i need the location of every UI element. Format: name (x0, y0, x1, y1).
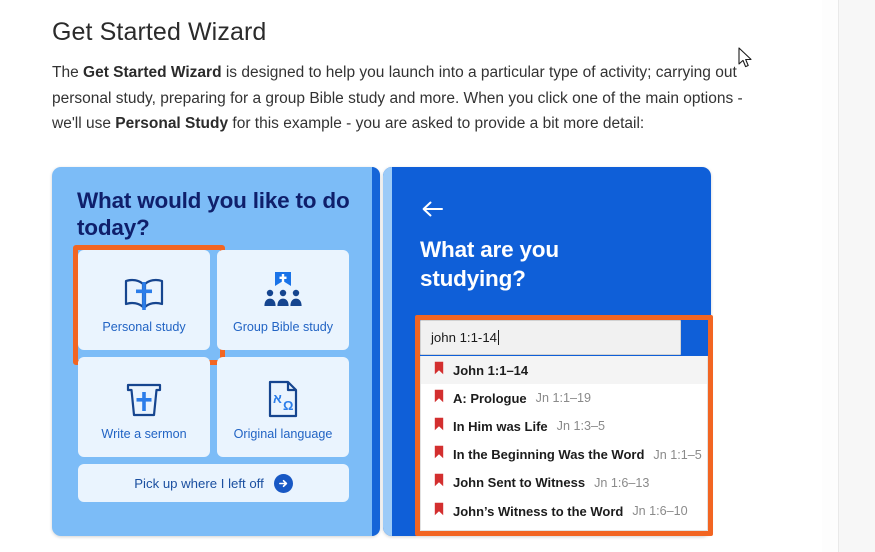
left-panel-right-edge (372, 167, 380, 536)
text-caret (498, 330, 499, 345)
intro-paragraph: The Get Started Wizard is designed to he… (52, 60, 758, 137)
back-arrow-icon[interactable] (421, 199, 445, 219)
suggestion-row[interactable]: A: Prologue Jn 1:1–19 (421, 384, 707, 412)
intro-segment-1: The (52, 64, 83, 81)
option-card-original-language[interactable]: א Ω Original language (217, 357, 349, 457)
open-book-cross-icon (122, 266, 166, 312)
intro-bold-personal-study: Personal Study (115, 115, 228, 132)
suggestion-row[interactable]: John’s Witness to the Word Jn 1:6–10 (421, 497, 707, 525)
option-card-group-bible-study[interactable]: Group Bible study (217, 250, 349, 350)
suggestion-row[interactable]: In Him was Life Jn 1:3–5 (421, 412, 707, 440)
bookmark-icon (434, 473, 444, 492)
suggestion-title: A: Prologue (453, 391, 527, 406)
suggestion-title: In the Beginning Was the Word (453, 447, 644, 462)
option-card-write-a-sermon[interactable]: Write a sermon (78, 357, 210, 457)
bookmark-icon (434, 502, 444, 521)
option-card-label: Group Bible study (233, 321, 333, 334)
svg-text:א: א (273, 391, 282, 406)
option-card-grid: Personal study (78, 250, 350, 502)
bookmark-icon (434, 445, 444, 464)
bookmark-icon (434, 389, 444, 408)
suggestion-title: In Him was Life (453, 419, 548, 434)
search-input-value: john 1:1-14 (431, 330, 497, 345)
suggestion-row[interactable]: John Sent to Witness Jn 1:6–13 (421, 469, 707, 497)
intro-segment-3: for this example - you are asked to prov… (228, 115, 644, 132)
wizard-left-panel: What would you like to do today? P (52, 167, 380, 536)
group-bible-icon (260, 266, 306, 312)
page-title: Get Started Wizard (52, 17, 772, 47)
wizard-screenshot: What would you like to do today? P (52, 167, 712, 539)
right-panel-heading: What are you studying? (420, 235, 670, 293)
suggestion-reference: Jn 1:6–13 (594, 476, 649, 490)
suggestion-title: John 1:1–14 (453, 363, 528, 378)
bookmark-icon (434, 417, 444, 436)
suggestion-title: John’s Witness to the Word (453, 504, 623, 519)
bookmark-icon (434, 361, 444, 380)
page-scrollbar-track[interactable] (822, 0, 838, 552)
suggestion-row[interactable]: John 1:1–14 (421, 356, 707, 384)
search-input[interactable]: john 1:1-14 (420, 320, 681, 355)
suggestion-reference: Jn 1:6–10 (632, 504, 687, 518)
suggestion-reference: Jn 1:3–5 (557, 419, 605, 433)
pick-up-label: Pick up where I left off (134, 476, 264, 491)
option-card-label: Personal study (102, 321, 185, 334)
pick-up-where-i-left-off-button[interactable]: Pick up where I left off (78, 464, 349, 502)
intro-bold-get-started-wizard: Get Started Wizard (83, 64, 222, 81)
svg-text:Ω: Ω (283, 398, 293, 413)
right-panel-left-edge (383, 167, 392, 536)
left-panel-heading: What would you like to do today? (77, 187, 352, 241)
article-column: Get Started Wizard The Get Started Wizar… (52, 0, 772, 137)
pulpit-cross-icon (123, 373, 165, 419)
suggestion-row[interactable]: In the Beginning Was the Word Jn 1:1–5 (421, 441, 707, 469)
document-aleph-omega-icon: א Ω (264, 373, 302, 419)
page-root: Get Started Wizard The Get Started Wizar… (0, 0, 875, 552)
arrow-right-circle-icon (274, 474, 293, 493)
wizard-right-panel: What are you studying? john 1:1-14 John … (383, 167, 711, 536)
option-card-personal-study[interactable]: Personal study (78, 250, 210, 350)
right-rail-panel (838, 0, 875, 552)
option-card-label: Write a sermon (101, 428, 186, 441)
search-suggestions-dropdown[interactable]: John 1:1–14 A: Prologue Jn 1:1–19 (420, 356, 708, 531)
option-card-row-1: Personal study (78, 250, 350, 350)
suggestion-reference: Jn 1:1–5 (653, 448, 701, 462)
option-card-label: Original language (234, 428, 333, 441)
suggestion-reference: Jn 1:1–19 (536, 391, 591, 405)
option-card-row-2: Write a sermon א Ω Original language (78, 357, 350, 457)
suggestion-title: John Sent to Witness (453, 475, 585, 490)
